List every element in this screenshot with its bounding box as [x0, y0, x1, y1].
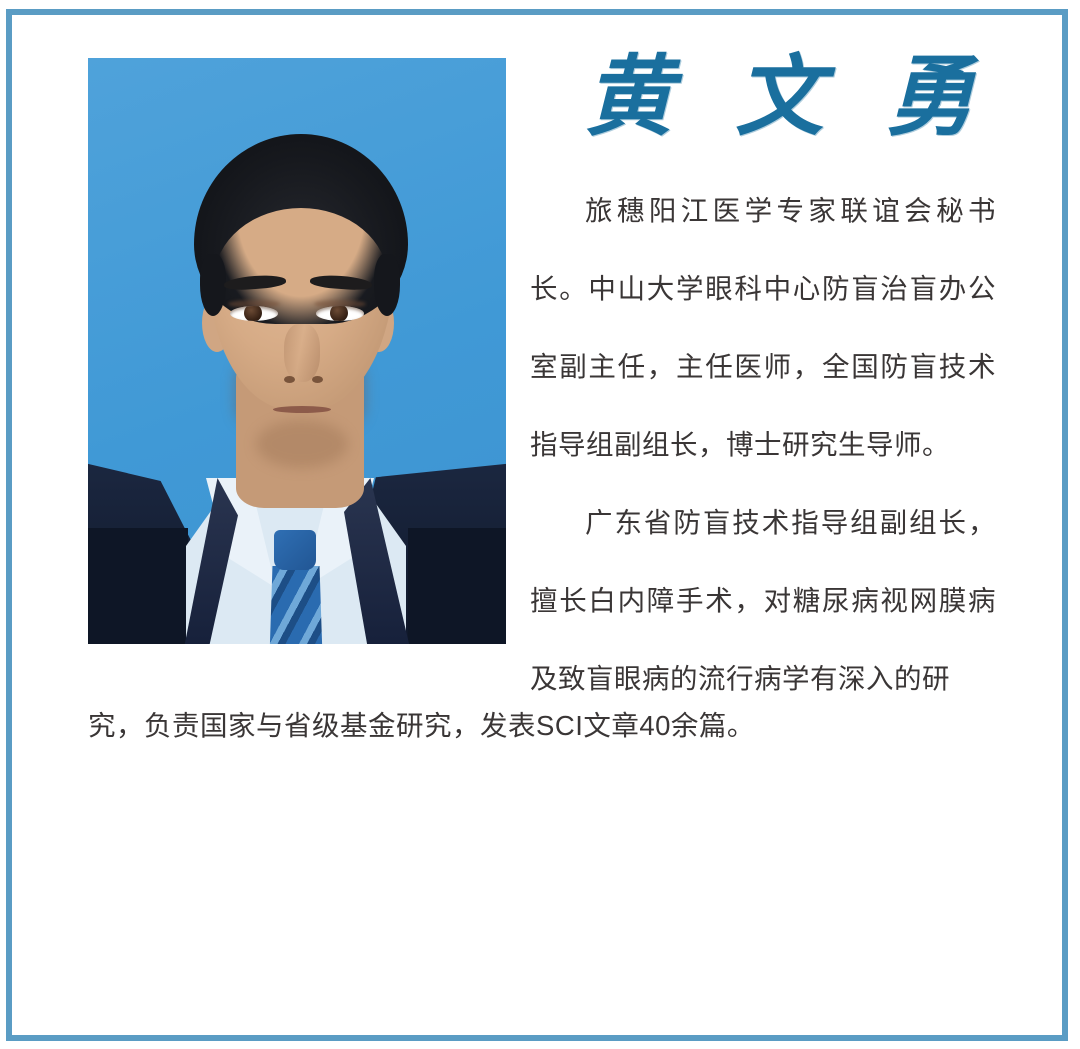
- sideburn-right: [374, 254, 400, 316]
- sideburn-left: [200, 254, 226, 316]
- shoulder-left: [88, 528, 188, 644]
- iris-left: [244, 306, 262, 321]
- eye-right: [316, 306, 364, 321]
- eye-left: [230, 306, 278, 321]
- mouth: [273, 406, 331, 413]
- nostril-left: [284, 376, 295, 383]
- iris-right: [330, 306, 348, 321]
- necktie-knot: [274, 530, 316, 570]
- profile-card-page: 黄 文 勇 旅穗阳江医学专家联谊会秘书长。中山大学眼科中心防盲治盲办公室副主任，…: [0, 0, 1080, 1049]
- necktie: [268, 566, 324, 644]
- bio-paragraph-1: 旅穗阳江医学专家联谊会秘书长。中山大学眼科中心防盲治盲办公室副主任，主任医师，全…: [530, 172, 996, 484]
- shoulder-right: [408, 528, 506, 644]
- portrait-photo: [88, 58, 506, 644]
- chin-shadow: [256, 420, 348, 468]
- biography-tail-line: 究，负责国家与省级基金研究，发表SCI文章40余篇。: [88, 696, 996, 756]
- nose: [284, 324, 320, 382]
- nostril-right: [312, 376, 323, 383]
- biography-column: 旅穗阳江医学专家联谊会秘书长。中山大学眼科中心防盲治盲办公室副主任，主任医师，全…: [530, 172, 996, 718]
- bio-paragraph-2: 广东省防盲技术指导组副组长，擅长白内障手术，对糖尿病视网膜病及致盲眼病的流行病学…: [530, 484, 996, 718]
- person-name-calligraphy: 黄 文 勇: [560, 52, 990, 140]
